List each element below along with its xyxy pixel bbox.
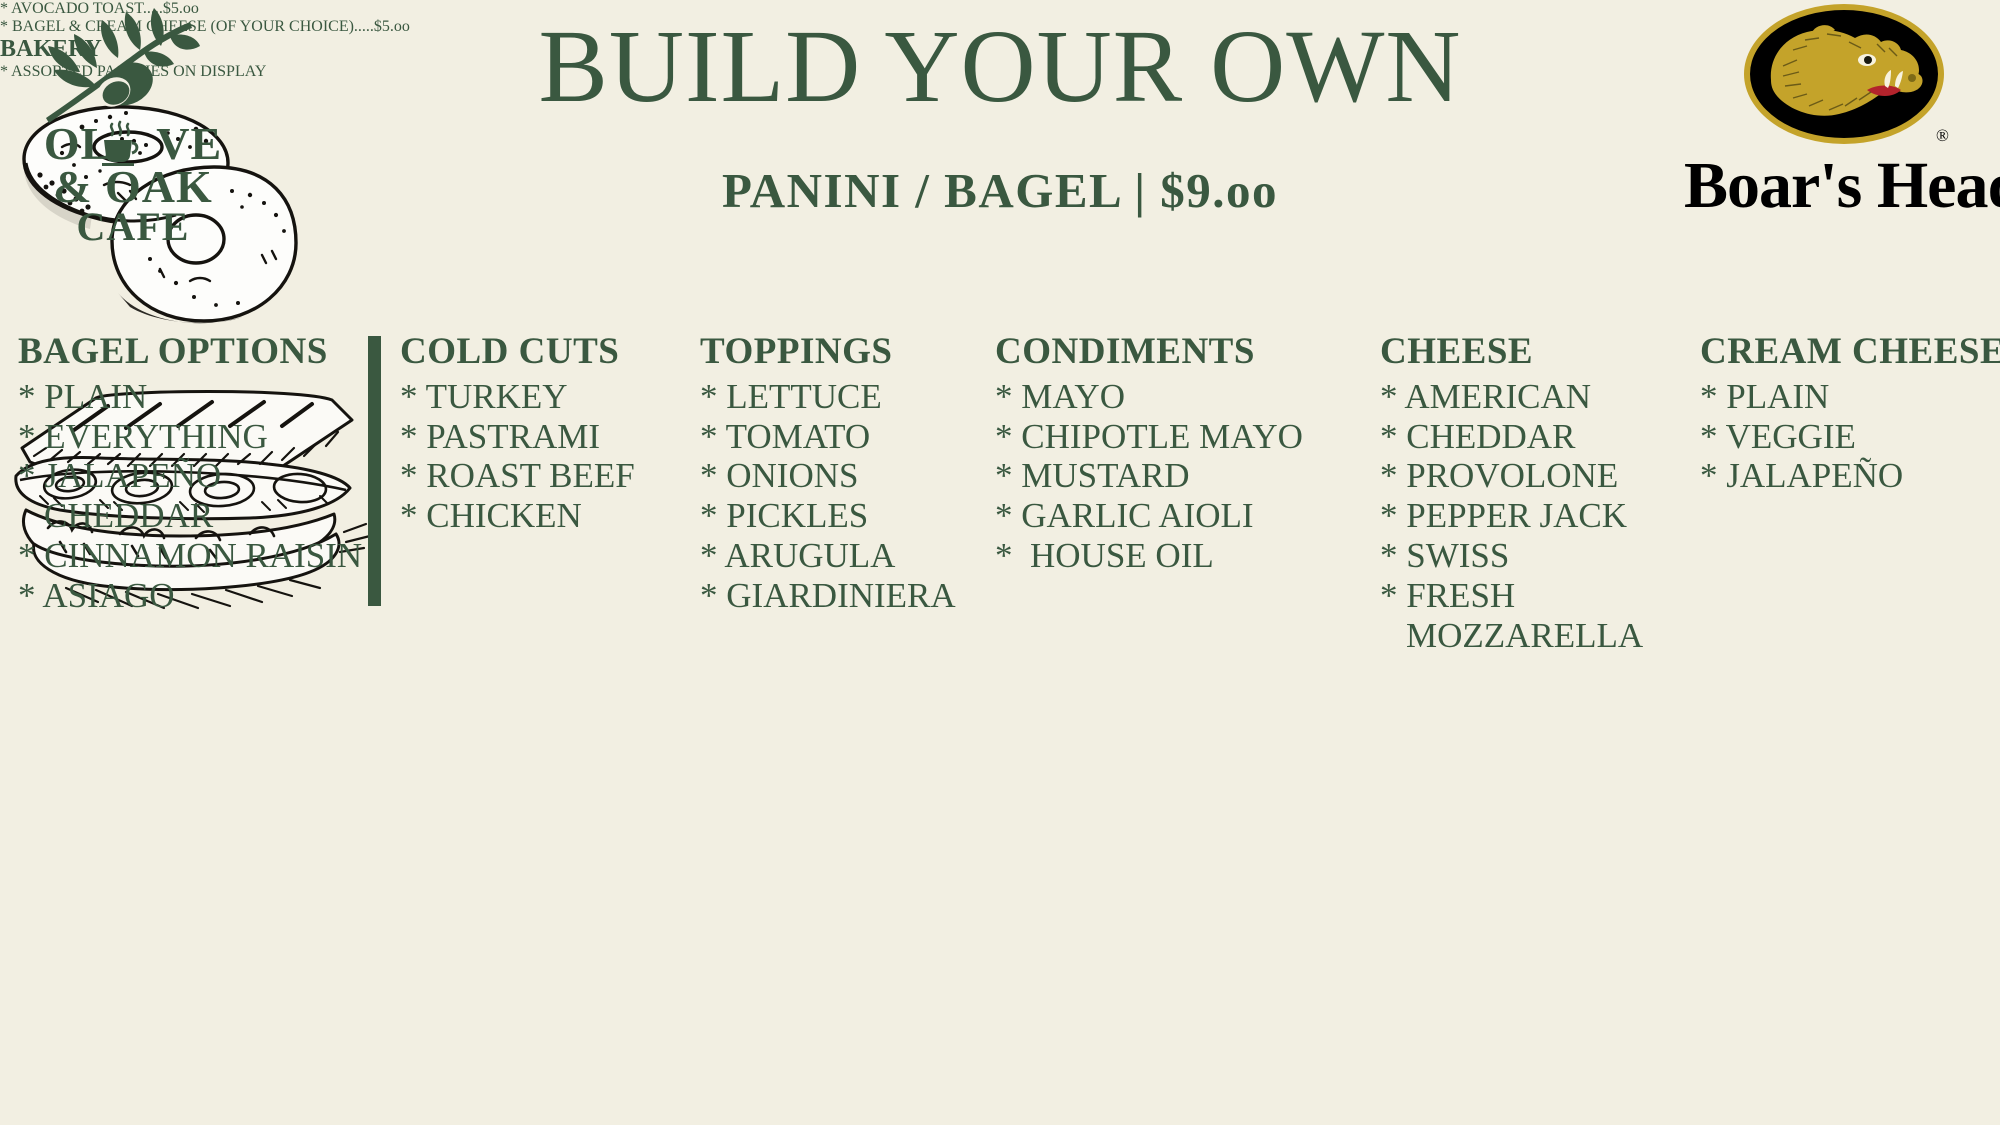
menu-board: OL VE & OAK C bbox=[0, 0, 2000, 1125]
logo-line-and-oak: & OAK bbox=[18, 165, 248, 208]
list-item: * CHIPOTLE MAYO bbox=[995, 417, 1325, 457]
column-list: * MAYO * CHIPOTLE MAYO * MUSTARD * GARLI… bbox=[995, 377, 1325, 576]
column-condiments: CONDIMENTS * MAYO * CHIPOTLE MAYO * MUST… bbox=[995, 330, 1325, 576]
page-title: BUILD YOUR OWN bbox=[380, 12, 1620, 121]
list-item: * LETTUCE bbox=[700, 377, 970, 417]
cafe-logo: OL VE & OAK C bbox=[18, 4, 288, 254]
column-list: * PLAIN * EVERYTHING * JALAPEÑO CHEDDAR … bbox=[18, 377, 378, 616]
boar-head-icon bbox=[1744, 4, 1944, 144]
list-item: * ARUGULA bbox=[700, 536, 970, 576]
list-item: * ONIONS bbox=[700, 456, 970, 496]
list-item: * CHICKEN bbox=[400, 496, 650, 536]
registered-trademark-icon: ® bbox=[1936, 126, 1949, 146]
logo-line-olive: OL VE bbox=[44, 122, 222, 165]
list-item: * SWISS bbox=[1380, 536, 1650, 576]
logo-line-cafe: CAFE bbox=[18, 208, 248, 246]
list-item: * PEPPER JACK bbox=[1380, 496, 1650, 536]
list-item: * PLAIN bbox=[1700, 377, 2000, 417]
column-heading: CHEESE bbox=[1380, 330, 1650, 374]
list-item: * FRESH bbox=[1380, 576, 1650, 616]
column-heading: CONDIMENTS bbox=[995, 330, 1325, 374]
list-item: * PASTRAMI bbox=[400, 417, 650, 457]
list-item: * HOUSE OIL bbox=[995, 536, 1325, 576]
column-heading: BAGEL OPTIONS bbox=[18, 330, 378, 374]
list-item: * GARLIC AIOLI bbox=[995, 496, 1325, 536]
list-item: * MUSTARD bbox=[995, 456, 1325, 496]
list-item: * JALAPEÑO bbox=[18, 456, 378, 496]
column-bagel-options: BAGEL OPTIONS * PLAIN * EVERYTHING * JAL… bbox=[18, 330, 378, 616]
list-item: * EVERYTHING bbox=[18, 417, 378, 457]
olive-branch-icon bbox=[40, 6, 200, 129]
list-item: * TURKEY bbox=[400, 377, 650, 417]
column-cheese: CHEESE * AMERICAN * CHEDDAR * PROVOLONE … bbox=[1380, 330, 1650, 656]
list-item: * TOMATO bbox=[700, 417, 970, 457]
column-heading: COLD CUTS bbox=[400, 330, 650, 374]
column-list: * PLAIN * VEGGIE * JALAPEÑO bbox=[1700, 377, 2000, 497]
list-item: * ASIAGO bbox=[18, 576, 378, 616]
list-item: * JALAPEÑO bbox=[1700, 456, 2000, 496]
list-item: MOZZARELLA bbox=[1380, 616, 1650, 656]
list-item: * AMERICAN bbox=[1380, 377, 1650, 417]
list-item: * CINNAMON RAISIN bbox=[18, 536, 378, 576]
page-subtitle: PANINI / BAGEL | $9.oo bbox=[380, 162, 1620, 219]
list-item: * PLAIN bbox=[18, 377, 378, 417]
list-item: CHEDDAR bbox=[18, 496, 378, 536]
column-cold-cuts: COLD CUTS * TURKEY * PASTRAMI * ROAST BE… bbox=[400, 330, 650, 536]
cafe-wordmark: OL VE & OAK C bbox=[18, 122, 248, 246]
list-item: * MAYO bbox=[995, 377, 1325, 417]
column-divider bbox=[368, 336, 381, 606]
column-cream-cheese: CREAM CHEESE * PLAIN * VEGGIE * JALAPEÑO bbox=[1700, 330, 2000, 496]
column-heading: TOPPINGS bbox=[700, 330, 970, 374]
brand-name: Boar's Head bbox=[1684, 148, 2000, 224]
list-item: * GIARDINIERA bbox=[700, 576, 970, 616]
list-item: * PICKLES bbox=[700, 496, 970, 536]
list-item: * ROAST BEEF bbox=[400, 456, 650, 496]
list-item: * VEGGIE bbox=[1700, 417, 2000, 457]
boars-head-logo: ® Boar's Head bbox=[1684, 0, 2000, 230]
coffee-cup-icon bbox=[99, 120, 141, 166]
list-item: * CHEDDAR bbox=[1380, 417, 1650, 457]
column-list: * LETTUCE * TOMATO * ONIONS * PICKLES * … bbox=[700, 377, 970, 616]
column-list: * TURKEY * PASTRAMI * ROAST BEEF * CHICK… bbox=[400, 377, 650, 537]
column-heading: CREAM CHEESE bbox=[1700, 330, 2000, 374]
list-item: * PROVOLONE bbox=[1380, 456, 1650, 496]
column-list: * AMERICAN * CHEDDAR * PROVOLONE * PEPPE… bbox=[1380, 377, 1650, 656]
column-toppings: TOPPINGS * LETTUCE * TOMATO * ONIONS * P… bbox=[700, 330, 970, 616]
